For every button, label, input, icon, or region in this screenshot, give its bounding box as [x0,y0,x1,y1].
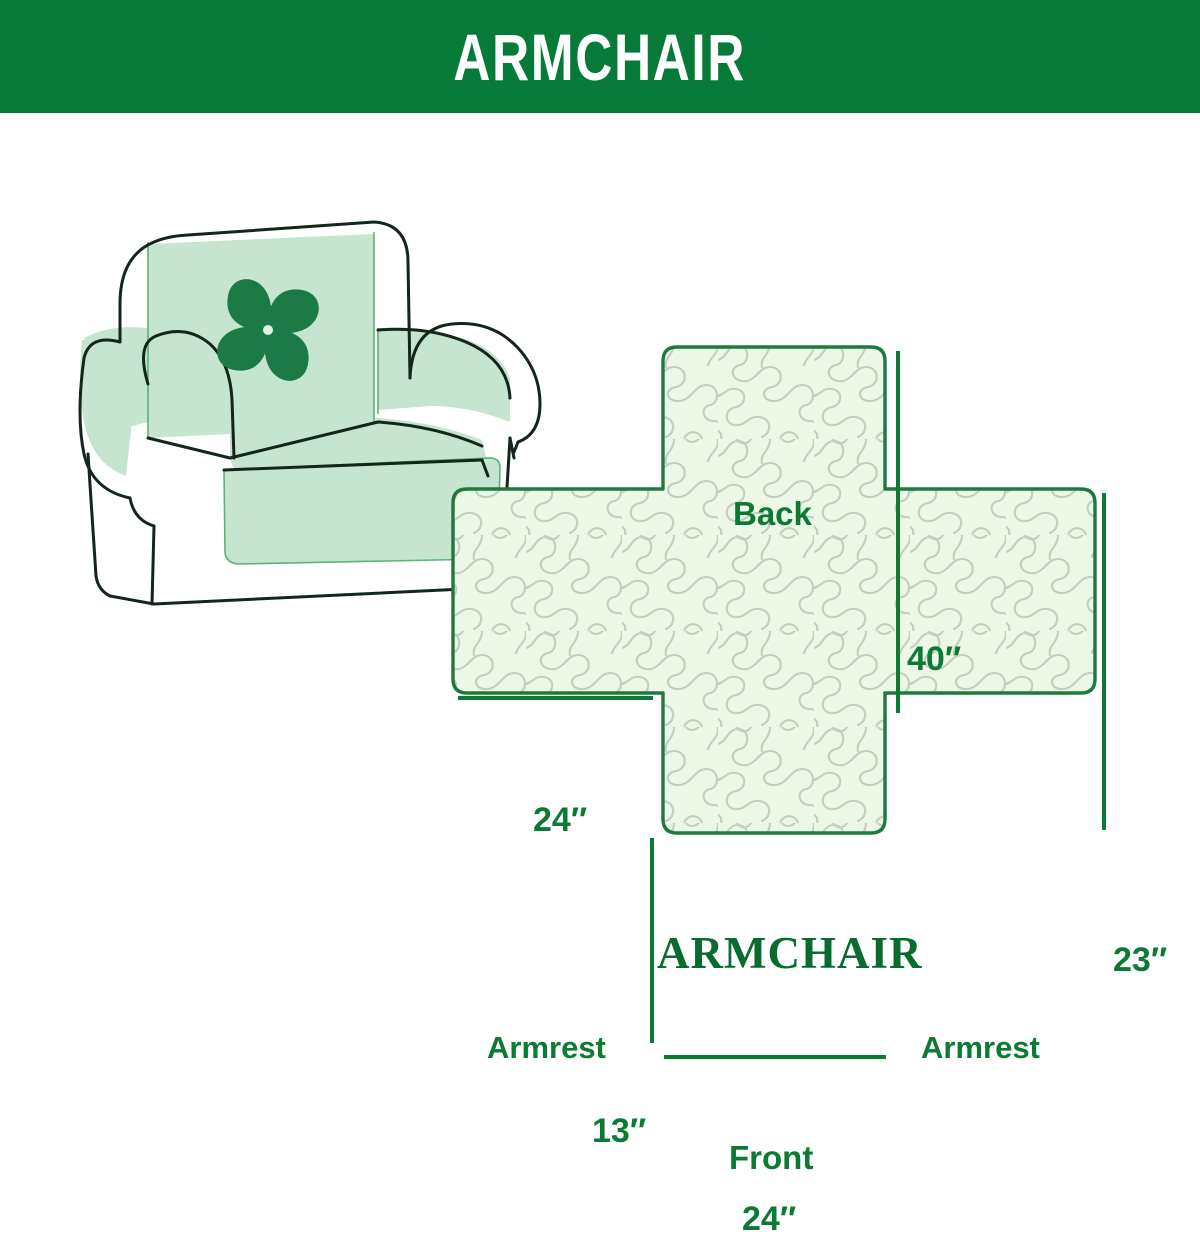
panel-label-back: Back [733,497,812,530]
page-title: ARMCHAIR [454,24,747,90]
pinwheel-hub [263,325,273,335]
outline-back-bottom [148,438,230,458]
cross-panel-shape [453,347,1095,833]
page-header: ARMCHAIR [0,0,1200,113]
dimension-label-back-width: 24″ [533,803,587,837]
dimension-label-armrest-depth: 23″ [1113,943,1167,977]
diagram-svg [430,343,1200,1203]
panel-label-front: Front [729,1141,813,1174]
panel-label-armrest-left: Armrest [487,1032,606,1063]
cover-flat-lay-diagram [430,343,1200,1203]
outline-base-left [88,454,154,604]
outline-left-arm-post [152,526,154,604]
page-root: ARMCHAIR [0,0,1200,1200]
dimension-label-front-height: 13″ [592,1114,646,1148]
outline-left-arm-roll [130,498,154,526]
content-stage: Back Armrest Armrest Front ARMCHAIR 40″ … [0,113,1200,1200]
dimension-label-front-width: 24″ [742,1202,796,1236]
diagram-center-label: ARMCHAIR [657,931,922,976]
dimension-label-back-height: 40″ [907,642,961,676]
panel-label-armrest-right: Armrest [921,1032,1040,1063]
